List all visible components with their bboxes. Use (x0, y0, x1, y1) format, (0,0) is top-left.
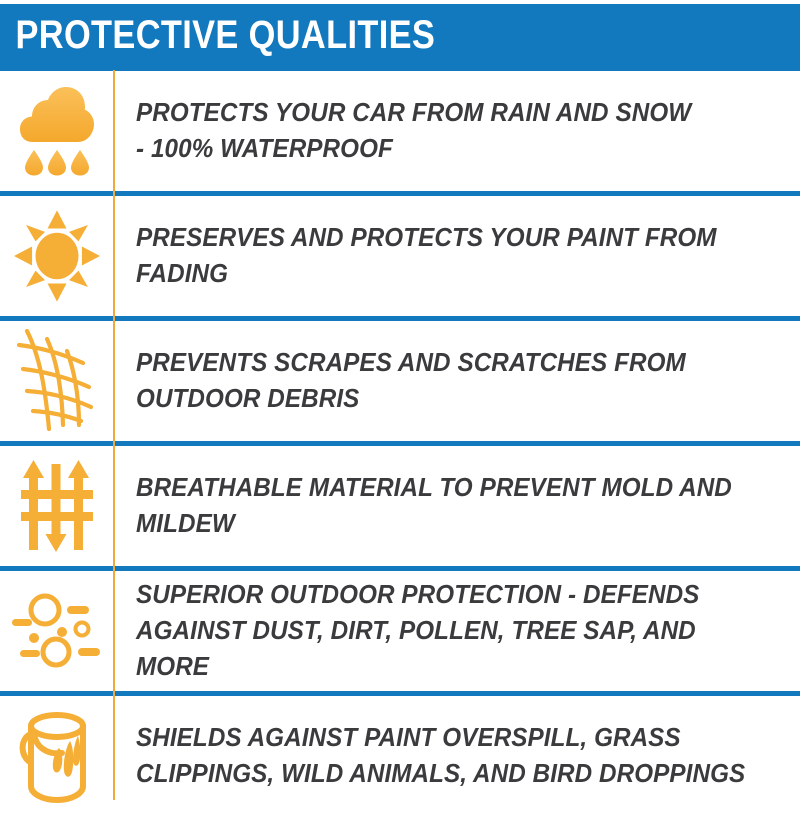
feature-text: BREATHABLE MATERIAL TO PREVENT MOLD AND … (136, 470, 754, 542)
icon-cell (0, 196, 113, 316)
feature-text: SHIELDS AGAINST PAINT OVERSPILL, GRASS C… (136, 720, 754, 792)
column-divider (113, 70, 115, 800)
list-item: SHIELDS AGAINST PAINT OVERSPILL, GRASS C… (0, 696, 800, 816)
text-cell: BREATHABLE MATERIAL TO PREVENT MOLD AND … (113, 470, 800, 542)
list-item: BREATHABLE MATERIAL TO PREVENT MOLD AND … (0, 446, 800, 566)
list-item: PREVENTS SCRAPES AND SCRATCHES FROM OUTD… (0, 321, 800, 441)
text-cell: SHIELDS AGAINST PAINT OVERSPILL, GRASS C… (113, 720, 800, 792)
list-item: PRESERVES AND PROTECTS YOUR PAINT FROM F… (0, 196, 800, 316)
text-cell: SUPERIOR OUTDOOR PROTECTION - DEFENDS AG… (113, 577, 800, 686)
dust-particles-icon (12, 588, 102, 674)
paint-can-icon (18, 708, 96, 804)
icon-cell (0, 446, 113, 566)
protective-qualities-infographic: PROTECTIVE QUALITIES (0, 0, 800, 800)
feature-text: PREVENTS SCRAPES AND SCRATCHES FROM OUTD… (136, 345, 754, 417)
icon-cell (0, 696, 113, 816)
text-cell: PRESERVES AND PROTECTS YOUR PAINT FROM F… (113, 220, 800, 292)
page-title: PROTECTIVE QUALITIES (0, 15, 435, 55)
scratches-icon (17, 329, 97, 433)
text-cell: PROTECTS YOUR CAR FROM RAIN AND SNOW - 1… (113, 95, 800, 167)
text-cell: PREVENTS SCRAPES AND SCRATCHES FROM OUTD… (113, 345, 800, 417)
list-item: SUPERIOR OUTDOOR PROTECTION - DEFENDS AG… (0, 571, 800, 691)
icon-cell (0, 571, 113, 691)
feature-list: PROTECTS YOUR CAR FROM RAIN AND SNOW - 1… (0, 66, 800, 816)
breathable-airflow-icon (21, 458, 93, 554)
list-item: PROTECTS YOUR CAR FROM RAIN AND SNOW - 1… (0, 71, 800, 191)
feature-text: SUPERIOR OUTDOOR PROTECTION - DEFENDS AG… (136, 577, 754, 686)
header-bar: PROTECTIVE QUALITIES (0, 4, 800, 66)
sun-icon (14, 210, 100, 302)
icon-cell (0, 71, 113, 191)
rain-cloud-icon (19, 86, 95, 176)
feature-text: PROTECTS YOUR CAR FROM RAIN AND SNOW - 1… (136, 95, 754, 167)
feature-text: PRESERVES AND PROTECTS YOUR PAINT FROM F… (136, 220, 754, 292)
icon-cell (0, 321, 113, 441)
